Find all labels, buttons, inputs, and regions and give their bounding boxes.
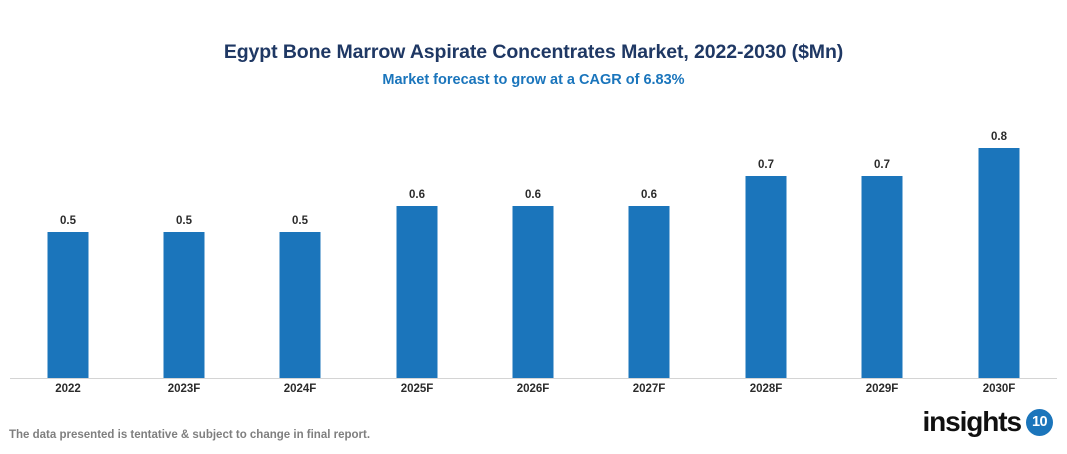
bar-2028F[interactable]: [746, 176, 787, 378]
x-tick-label: 2022: [10, 382, 126, 396]
x-tick-label: 2030F: [941, 382, 1057, 396]
bar-group: 0.6: [591, 110, 707, 378]
bar-value-label: 0.6: [409, 189, 425, 202]
bar-2023F[interactable]: [164, 232, 205, 378]
chart-subtitle: Market forecast to grow at a CAGR of 6.8…: [0, 71, 1067, 89]
bar-2024F[interactable]: [280, 232, 321, 378]
bar-group: 0.6: [475, 110, 591, 378]
bar-group: 0.5: [242, 110, 358, 378]
bar-group: 0.5: [126, 110, 242, 378]
x-tick-label: 2026F: [475, 382, 591, 396]
x-tick-label: 2028F: [708, 382, 824, 396]
x-tick-label: 2029F: [824, 382, 940, 396]
brand-wordmark: insights: [922, 407, 1021, 437]
bar-group: 0.7: [824, 110, 940, 378]
bar-value-label: 0.6: [641, 189, 657, 202]
bar-value-label: 0.5: [176, 215, 192, 228]
x-axis-labels: 2022 2023F 2024F 2025F 2026F 2027F 2028F…: [10, 379, 1057, 403]
chart-header: Egypt Bone Marrow Aspirate Concentrates …: [0, 40, 1067, 89]
plot-area: 0.5 0.5 0.5 0.6 0.6 0.6 0.7 0.7: [10, 110, 1057, 378]
chart-title: Egypt Bone Marrow Aspirate Concentrates …: [0, 40, 1067, 64]
bar-group: 0.7: [708, 110, 824, 378]
x-tick-label: 2025F: [359, 382, 475, 396]
x-tick-label: 2023F: [126, 382, 242, 396]
bar-value-label: 0.8: [991, 131, 1007, 144]
brand-badge-icon: 10: [1026, 409, 1053, 436]
bar-2030F[interactable]: [979, 148, 1020, 378]
bar-value-label: 0.5: [60, 215, 76, 228]
bar-value-label: 0.6: [525, 189, 541, 202]
bar-value-label: 0.7: [758, 159, 774, 172]
x-tick-label: 2024F: [242, 382, 358, 396]
bar-2026F[interactable]: [513, 206, 554, 378]
bar-value-label: 0.5: [292, 215, 308, 228]
disclaimer-text: The data presented is tentative & subjec…: [9, 428, 370, 442]
bar-group: 0.5: [10, 110, 126, 378]
bar-group: 0.8: [941, 110, 1057, 378]
bar-2027F[interactable]: [629, 206, 670, 378]
bar-2022[interactable]: [48, 232, 89, 378]
insights10-logo: insights 10: [922, 407, 1053, 437]
chart-page: Egypt Bone Marrow Aspirate Concentrates …: [0, 0, 1067, 454]
bar-2029F[interactable]: [862, 176, 903, 378]
x-tick-label: 2027F: [591, 382, 707, 396]
bar-2025F[interactable]: [397, 206, 438, 378]
bar-group: 0.6: [359, 110, 475, 378]
bar-value-label: 0.7: [874, 159, 890, 172]
